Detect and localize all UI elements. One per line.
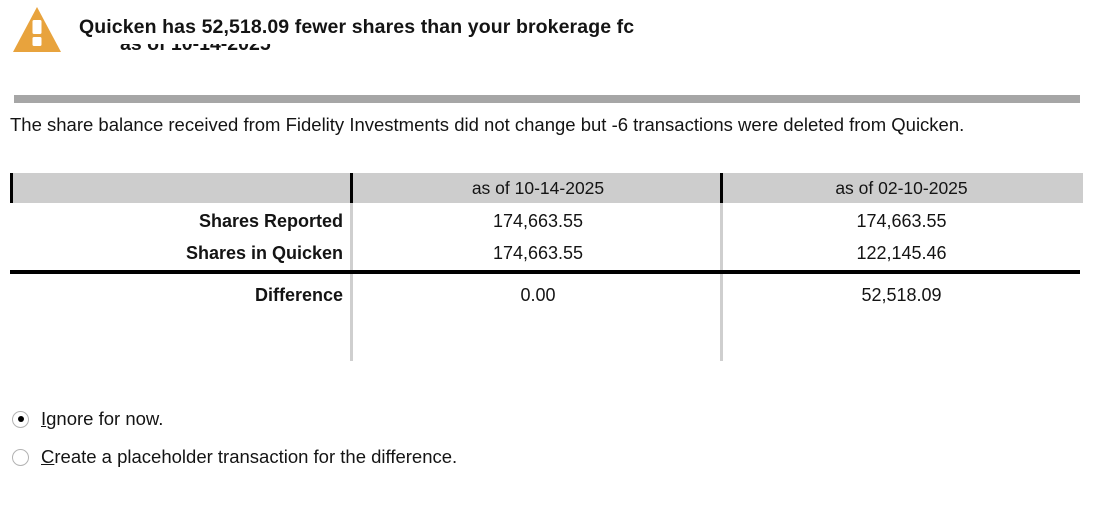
row-value-shares-in-quicken-col2: 122,145.46 <box>723 238 1080 269</box>
radio-text-ignore: gnore for now. <box>46 408 163 429</box>
section-divider <box>14 95 1080 103</box>
table-header-divider-1 <box>350 173 353 203</box>
table-row: Shares Reported 174,663.55 174,663.55 <box>10 206 1080 237</box>
table-row: Shares in Quicken 174,663.55 122,145.46 <box>10 238 1080 269</box>
table-row: Difference 0.00 52,518.09 <box>10 280 1080 311</box>
warning-triangle-icon <box>11 6 63 54</box>
warning-header: Quicken has 52,518.09 fewer shares than … <box>0 0 1094 86</box>
table-column-header-1: as of 10-14-2025 <box>353 173 723 203</box>
table-header-divider-2 <box>720 173 723 203</box>
page-title: Quicken has 52,518.09 fewer shares than … <box>79 16 1059 39</box>
table-column-header-2: as of 02-10-2025 <box>723 173 1080 203</box>
radio-option-create-placeholder[interactable]: Create a placeholder transaction for the… <box>12 438 1012 476</box>
radio-text-create-placeholder: reate a placeholder transaction for the … <box>54 446 457 467</box>
description-text: The share balance received from Fidelity… <box>10 112 1070 137</box>
row-value-difference-col2: 52,518.09 <box>723 280 1080 311</box>
resolution-options-group: Ignore for now. Create a placeholder tra… <box>12 400 1012 476</box>
row-label-shares-reported: Shares Reported <box>10 206 343 237</box>
radio-icon-create-placeholder[interactable] <box>12 449 29 466</box>
row-value-shares-reported-col2: 174,663.55 <box>723 206 1080 237</box>
row-label-shares-in-quicken: Shares in Quicken <box>10 238 343 269</box>
row-label-difference: Difference <box>10 280 343 311</box>
radio-option-ignore[interactable]: Ignore for now. <box>12 400 1012 438</box>
row-value-difference-col1: 0.00 <box>353 280 723 311</box>
row-value-shares-in-quicken-col1: 174,663.55 <box>353 238 723 269</box>
table-total-rule <box>10 270 1080 274</box>
radio-icon-ignore[interactable] <box>12 411 29 428</box>
row-value-shares-reported-col1: 174,663.55 <box>353 206 723 237</box>
radio-label-ignore: Ignore for now. <box>41 408 163 430</box>
share-comparison-table: as of 10-14-2025 as of 02-10-2025 Shares… <box>10 173 1080 363</box>
radio-label-create-placeholder: Create a placeholder transaction for the… <box>41 446 457 468</box>
radio-accel-create-placeholder: C <box>41 446 54 467</box>
page-title-clipped-line: as of 10-14-2025 <box>120 44 320 54</box>
page-title-clipped-text: as of 10-14-2025 <box>120 44 320 54</box>
